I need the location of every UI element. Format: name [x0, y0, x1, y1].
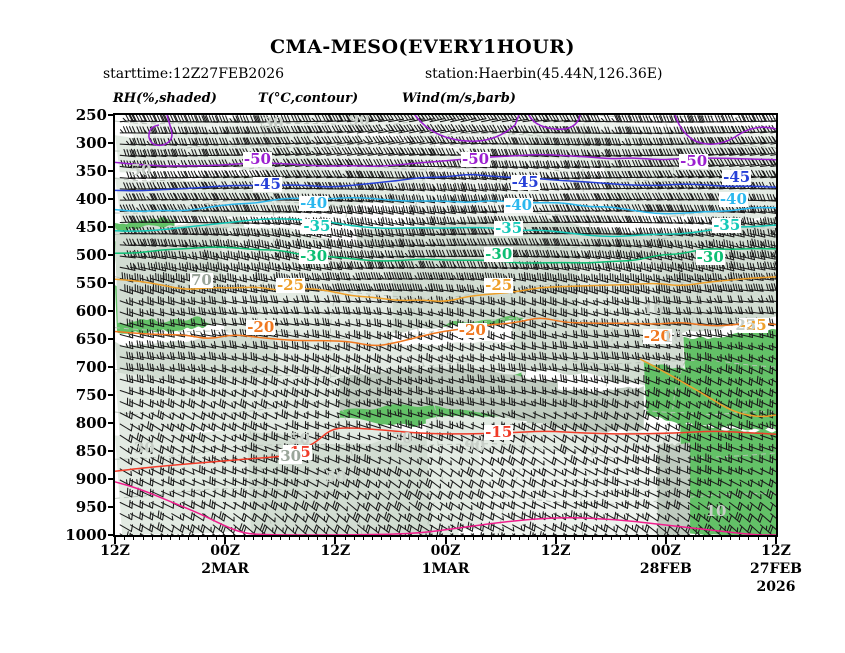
- x-tick-label-time-3: 00Z: [411, 543, 481, 559]
- temperature-contour-label--25: -25: [276, 278, 305, 293]
- temperature-contour-label--30: -30: [484, 247, 513, 262]
- y-tick-label-300: 300: [53, 134, 107, 152]
- legend-item-wind: Wind(m/s,barb): [402, 91, 516, 106]
- temperature-contour-label--50: -50: [461, 152, 490, 167]
- temperature-contour-label--40: -40: [299, 196, 328, 211]
- x-tick-label-time-4: 12Z: [521, 543, 591, 559]
- chart-plot-area: -50-50-50-45-45-45-40-40-40-35-35-35-30-…: [113, 113, 778, 537]
- y-tick-label-750: 750: [53, 386, 107, 404]
- x-tick-label-date-3: 1MAR: [411, 561, 481, 577]
- y-tick-label-650: 650: [53, 330, 107, 348]
- rh-shading-label-10-10: 10: [643, 302, 664, 317]
- y-tick-label-500: 500: [53, 246, 107, 264]
- x-tick-label-date-5: 28FEB: [631, 561, 701, 577]
- legend: RH(%,shaded) T(°C,contour) Wind(m/s,barb…: [0, 91, 845, 109]
- temperature-contour-label--20: -20: [458, 323, 487, 338]
- temperature-contour-label--20: -20: [246, 320, 275, 335]
- x-tick-label-time-0: 12Z: [80, 543, 150, 559]
- legend-item-temperature: T(°C,contour): [258, 91, 358, 106]
- y-tick-label-950: 950: [53, 498, 107, 516]
- rh-shading-label-50-9: 50: [326, 470, 347, 485]
- temperature-contour-label--45: -45: [722, 170, 751, 185]
- temperature-contour-label--35: -35: [712, 218, 741, 233]
- rh-band-70-bl-r: [657, 442, 690, 535]
- temperature-contour-label--50: -50: [679, 154, 708, 169]
- x-tick-label-time-2: 12Z: [300, 543, 370, 559]
- y-tick-label-450: 450: [53, 218, 107, 236]
- x-tick-label-year-6: 2026: [741, 579, 811, 595]
- rh-shading-label-90-8: 90: [464, 439, 485, 454]
- y-tick-label-400: 400: [53, 190, 107, 208]
- station-label: station:Haerbin(45.44N,126.36E): [425, 66, 662, 82]
- subtitle-row: starttime:12Z27FEB2026 station:Haerbin(4…: [0, 66, 845, 84]
- starttime-label: starttime:12Z27FEB2026: [103, 66, 284, 82]
- page-title: CMA-MESO(EVERY1HOUR): [0, 36, 845, 58]
- x-tick-label-time-6: 12Z: [741, 543, 811, 559]
- rh-shading-label-70-7: 70: [392, 431, 413, 446]
- y-tick-label-800: 800: [53, 414, 107, 432]
- rh-shading-label-10-13: 10: [706, 504, 727, 519]
- temperature-contour-label--40: -40: [719, 192, 748, 207]
- rh-shading-label-50-0: 50: [131, 163, 152, 178]
- y-tick-label-600: 600: [53, 302, 107, 320]
- y-tick-label-1000: 1000: [53, 526, 107, 544]
- rh-shading-label-90-2: 90: [349, 113, 370, 128]
- temperature-contour-label--40: -40: [504, 198, 533, 213]
- temperature-contour-label--35: -35: [494, 221, 523, 236]
- rh-shading-label-30-6: 30: [279, 449, 302, 464]
- temperature-contour-label--30: -30: [696, 250, 725, 265]
- rh-shading-label-30-1: 30: [263, 116, 284, 131]
- y-tick-label-350: 350: [53, 162, 107, 180]
- rh-shading-label-25-11: 25: [735, 318, 756, 333]
- temperature-contour-label--35: -35: [302, 219, 331, 234]
- temperature-contour-label--15: -15: [484, 425, 513, 440]
- rh-shading-label-70-3: 70: [190, 273, 213, 288]
- chart-canvas: [115, 115, 776, 535]
- temperature-contour-label--25: -25: [484, 278, 513, 293]
- temperature-contour-label--50: -50: [243, 152, 272, 167]
- x-tick-label-date-1: 2MAR: [190, 561, 260, 577]
- y-tick-label-250: 250: [53, 106, 107, 124]
- y-tick-label-700: 700: [53, 358, 107, 376]
- temperature-contour-label--45: -45: [511, 175, 540, 190]
- x-tick-label-time-5: 00Z: [631, 543, 701, 559]
- legend-item-rh: RH(%,shaded): [113, 91, 217, 106]
- y-tick-label-550: 550: [53, 274, 107, 292]
- rh-shading-label-50-5: 50: [289, 432, 310, 447]
- y-tick-label-900: 900: [53, 470, 107, 488]
- x-tick-label-date-6: 27FEB: [741, 561, 811, 577]
- x-tick-label-time-1: 00Z: [190, 543, 260, 559]
- y-tick-label-850: 850: [53, 442, 107, 460]
- rh-shading-label-10-12: 10: [663, 330, 684, 345]
- rh-shading-label-30-4: 30: [134, 441, 155, 456]
- temperature-contour-label--45: -45: [253, 177, 282, 192]
- temperature-contour-label--30: -30: [299, 249, 328, 264]
